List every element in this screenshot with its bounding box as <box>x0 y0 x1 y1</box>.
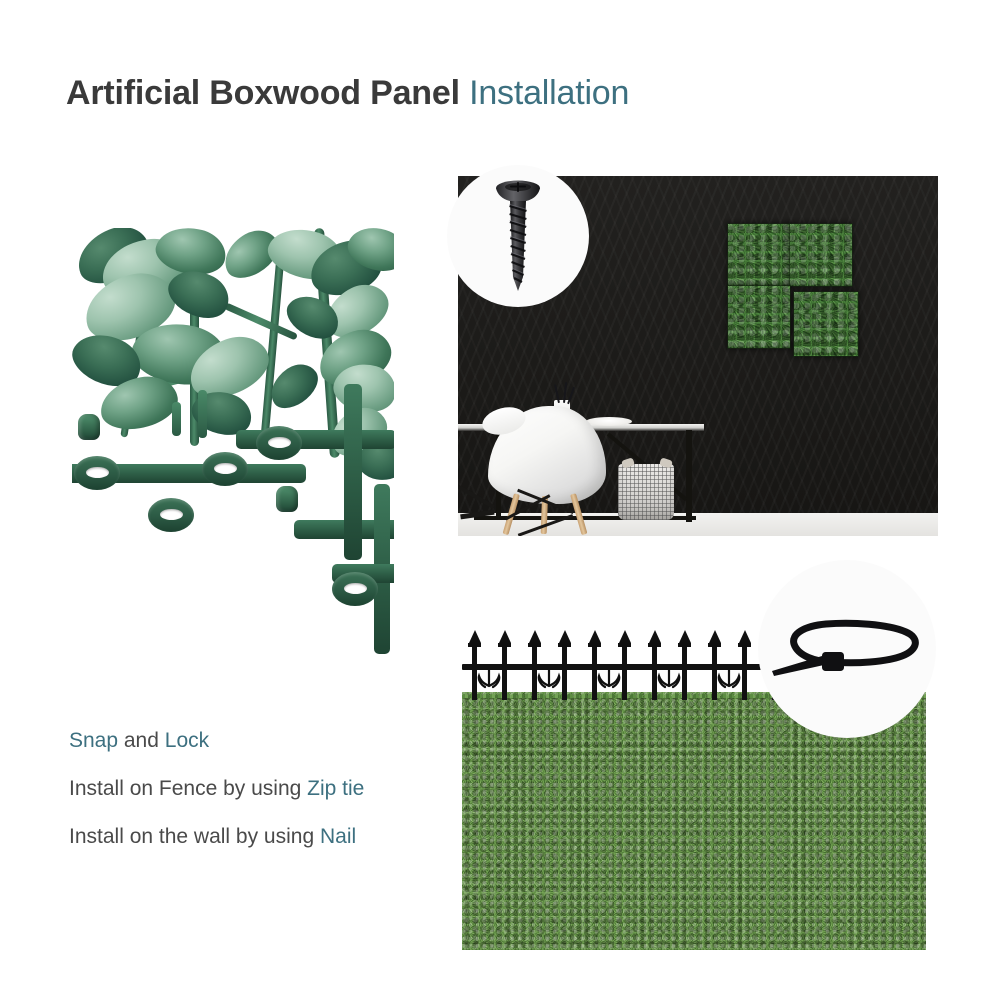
fence-finial-icon <box>589 630 601 643</box>
fence-finial-icon <box>499 630 511 643</box>
fence-fleur-de-lis-icon <box>532 670 566 690</box>
lattice-bar-vertical <box>344 384 362 560</box>
snap-lock-eyelet <box>74 456 120 490</box>
snap-lock-stub <box>198 390 207 438</box>
fence-finial-collar <box>618 643 631 647</box>
fence-fleur-de-lis-icon <box>652 670 686 690</box>
caption-plain-and: and <box>118 729 165 752</box>
screw-icon <box>488 179 548 297</box>
boxwood-panel-closeup-image <box>72 228 394 656</box>
snap-lock-peg <box>276 486 298 512</box>
fence-finial-collar <box>708 643 721 647</box>
caption-highlight-nail: Nail <box>320 825 356 848</box>
fence-finial-icon <box>559 630 571 643</box>
fence-finial-collar <box>588 643 601 647</box>
wall-boxwood-tile <box>794 292 858 356</box>
ziptie-callout <box>758 560 936 738</box>
fence-finial-collar <box>468 643 481 647</box>
wire-basket <box>618 464 674 520</box>
caption-highlight-zip-tie: Zip tie <box>307 777 364 800</box>
snap-lock-stub <box>172 402 181 436</box>
caption-plain-fence: Install on Fence by using <box>69 777 307 800</box>
panel-backing-lattice <box>72 424 394 656</box>
caption-highlight-snap: Snap <box>69 729 118 752</box>
boxwood-photo-canvas <box>72 228 394 656</box>
caption-list: Snap and Lock Install on Fence by using … <box>69 730 469 847</box>
caption-plain-wall: Install on the wall by using <box>69 825 320 848</box>
fence-finial-icon <box>469 630 481 643</box>
fence-fleur-de-lis-icon <box>472 670 506 690</box>
fence-finial-icon <box>619 630 631 643</box>
fence-finial-collar <box>738 643 751 647</box>
fence-finial-collar <box>648 643 661 647</box>
fence-finial-icon <box>649 630 661 643</box>
fence-finial-collar <box>498 643 511 647</box>
fence-fleur-de-lis-icon <box>712 670 746 690</box>
caption-install-on-wall: Install on the wall by using Nail <box>69 826 469 847</box>
page-title-bold: Artificial Boxwood Panel <box>66 74 460 112</box>
page-title-accent: Installation <box>469 74 629 112</box>
snap-lock-peg <box>78 414 100 440</box>
caption-highlight-lock: Lock <box>165 729 209 752</box>
desk-leg <box>686 430 692 522</box>
snap-lock-eyelet <box>332 572 378 606</box>
fence-finial-icon <box>709 630 721 643</box>
fence-finial-collar <box>528 643 541 647</box>
fence-finial-collar <box>558 643 571 647</box>
zip-tie-icon <box>770 616 928 684</box>
page-title: Artificial Boxwood Panel Installation <box>66 74 629 113</box>
fence-finial-collar <box>678 643 691 647</box>
desk-plate <box>586 417 632 426</box>
fence-finial-icon <box>679 630 691 643</box>
fence-fleur-de-lis-icon <box>592 670 626 690</box>
wall-boxwood-tile <box>728 224 790 286</box>
screw-callout <box>447 165 589 307</box>
fence-finial-icon <box>529 630 541 643</box>
wall-boxwood-tile <box>728 286 790 348</box>
snap-lock-eyelet <box>256 426 302 460</box>
caption-install-on-fence: Install on Fence by using Zip tie <box>69 778 469 799</box>
snap-lock-eyelet <box>148 498 194 532</box>
fence-finial-icon <box>739 630 751 643</box>
wall-boxwood-tile <box>790 224 852 286</box>
snap-lock-eyelet <box>202 452 248 486</box>
infographic-page: Artificial Boxwood Panel Installation <box>0 0 1000 1000</box>
caption-snap-and-lock: Snap and Lock <box>69 730 469 751</box>
